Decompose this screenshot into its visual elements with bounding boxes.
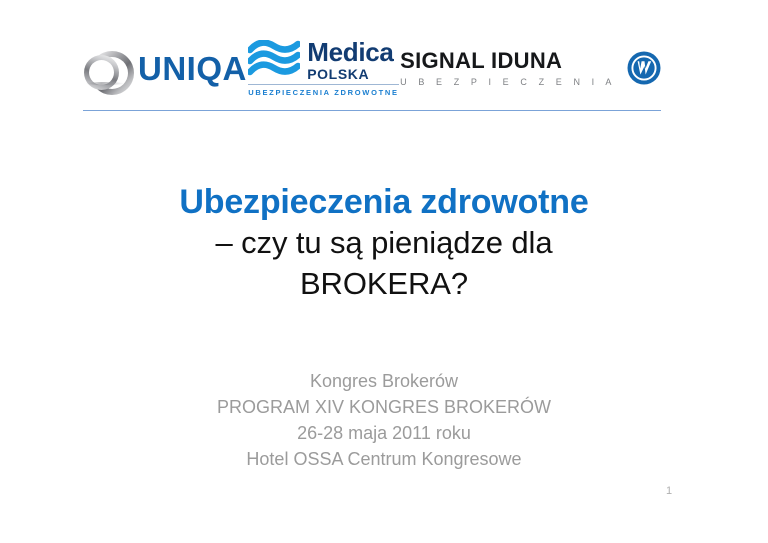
subtitle-line-2: PROGRAM XIV KONGRES BROKERÓW [0, 394, 768, 420]
slide-title: Ubezpieczenia zdrowotne – czy tu są pien… [0, 182, 768, 304]
title-line-1: Ubezpieczenia zdrowotne [0, 182, 768, 222]
title-line-3: BROKERA? [0, 263, 768, 304]
title-line-2: – czy tu są pieniądze dla [0, 222, 768, 263]
signal-iduna-tagline: U B E Z P I E C Z E N I A [400, 78, 616, 87]
subtitle-line-3: 26-28 maja 2011 roku [0, 420, 768, 446]
uniqa-wordmark: UNIQA [138, 52, 247, 85]
medica-waves-icon [248, 40, 300, 80]
header-divider-line [83, 110, 661, 111]
signal-iduna-words: SIGNAL IDUNA U B E Z P I E C Z E N I A [400, 49, 616, 86]
uniqa-ring-icon [83, 49, 129, 87]
medica-tagline: UBEZPIECZENIA ZDROWOTNE [248, 84, 399, 97]
page-number: 1 [660, 485, 678, 497]
slide-subtitle: Kongres Brokerów PROGRAM XIV KONGRES BRO… [0, 368, 768, 472]
medica-subname: POLSKA [307, 67, 369, 81]
logo-bar: UNIQA Medica POLSKA UBEZPIECZENIA ZDROWO… [83, 32, 661, 104]
subtitle-line-4: Hotel OSSA Centrum Kongresowe [0, 446, 768, 472]
subtitle-line-1: Kongres Brokerów [0, 368, 768, 394]
presentation-slide: UNIQA Medica POLSKA UBEZPIECZENIA ZDROWO… [0, 0, 768, 543]
medica-words: Medica POLSKA [307, 39, 393, 81]
signal-iduna-wordmark: SIGNAL IDUNA [400, 49, 562, 72]
signal-iduna-circle-icon [627, 51, 661, 85]
logo-uniqa: UNIQA [83, 49, 247, 87]
logo-signal-iduna: SIGNAL IDUNA U B E Z P I E C Z E N I A [400, 49, 661, 86]
medica-wordmark: Medica [307, 39, 393, 65]
medica-top-row: Medica POLSKA [248, 39, 393, 81]
logo-medica-polska: Medica POLSKA UBEZPIECZENIA ZDROWOTNE [248, 39, 399, 97]
